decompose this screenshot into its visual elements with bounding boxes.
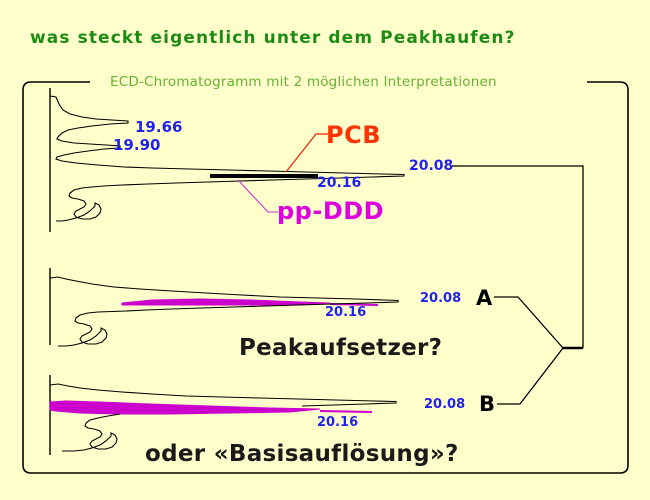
label-pcb: PCB bbox=[326, 121, 381, 149]
chromatogram-figure: PCB pp-DDD 19.66 19.90 20.16 20.08 20.16… bbox=[0, 0, 650, 500]
ppddd-leader-line bbox=[238, 180, 278, 212]
rt-label-20-16-original: 20.16 bbox=[317, 175, 361, 191]
rt-label-19-66: 19.66 bbox=[135, 118, 182, 136]
pcb-leader-line bbox=[286, 134, 330, 172]
caption-b: oder «Basisauflösung»? bbox=[145, 441, 459, 467]
rt-label-20-08-b: 20.08 bbox=[424, 397, 465, 412]
bracket-arm-a bbox=[494, 297, 563, 348]
caption-a: Peakaufsetzer? bbox=[239, 335, 442, 361]
bracket-top-arm bbox=[452, 166, 583, 348]
panel-a-trace-lower bbox=[58, 312, 112, 347]
rt-label-19-90: 19.90 bbox=[113, 136, 160, 154]
rt-label-20-16-b: 20.16 bbox=[317, 415, 358, 430]
panel-b-ppddd-fill bbox=[50, 401, 320, 414]
rt-label-20-08-a: 20.08 bbox=[420, 291, 461, 306]
screenshot-root: was steckt eigentlich unter dem Peakhauf… bbox=[0, 0, 650, 500]
marker-b: B bbox=[479, 392, 495, 416]
panel-b-trace-lower bbox=[62, 414, 120, 451]
rt-label-20-16-a: 20.16 bbox=[325, 305, 366, 320]
panel-b-ppddd-tail bbox=[320, 411, 372, 412]
marker-a: A bbox=[476, 286, 493, 310]
interpretation-bracket bbox=[452, 166, 583, 404]
label-pp-ddd: pp-DDD bbox=[277, 197, 384, 225]
panel-original-trace-lower bbox=[56, 186, 104, 221]
rt-label-20-08-original: 20.08 bbox=[409, 158, 453, 174]
panel-b: 20.16 20.08 B oder «Basisauflösung»? bbox=[50, 375, 495, 467]
panel-a: 20.16 20.08 A Peakaufsetzer? bbox=[50, 268, 493, 361]
panel-original: PCB pp-DDD 19.66 19.90 20.16 20.08 bbox=[50, 88, 453, 232]
panel-a-ppddd-fill bbox=[122, 299, 330, 305]
bracket-arm-b bbox=[497, 348, 563, 404]
